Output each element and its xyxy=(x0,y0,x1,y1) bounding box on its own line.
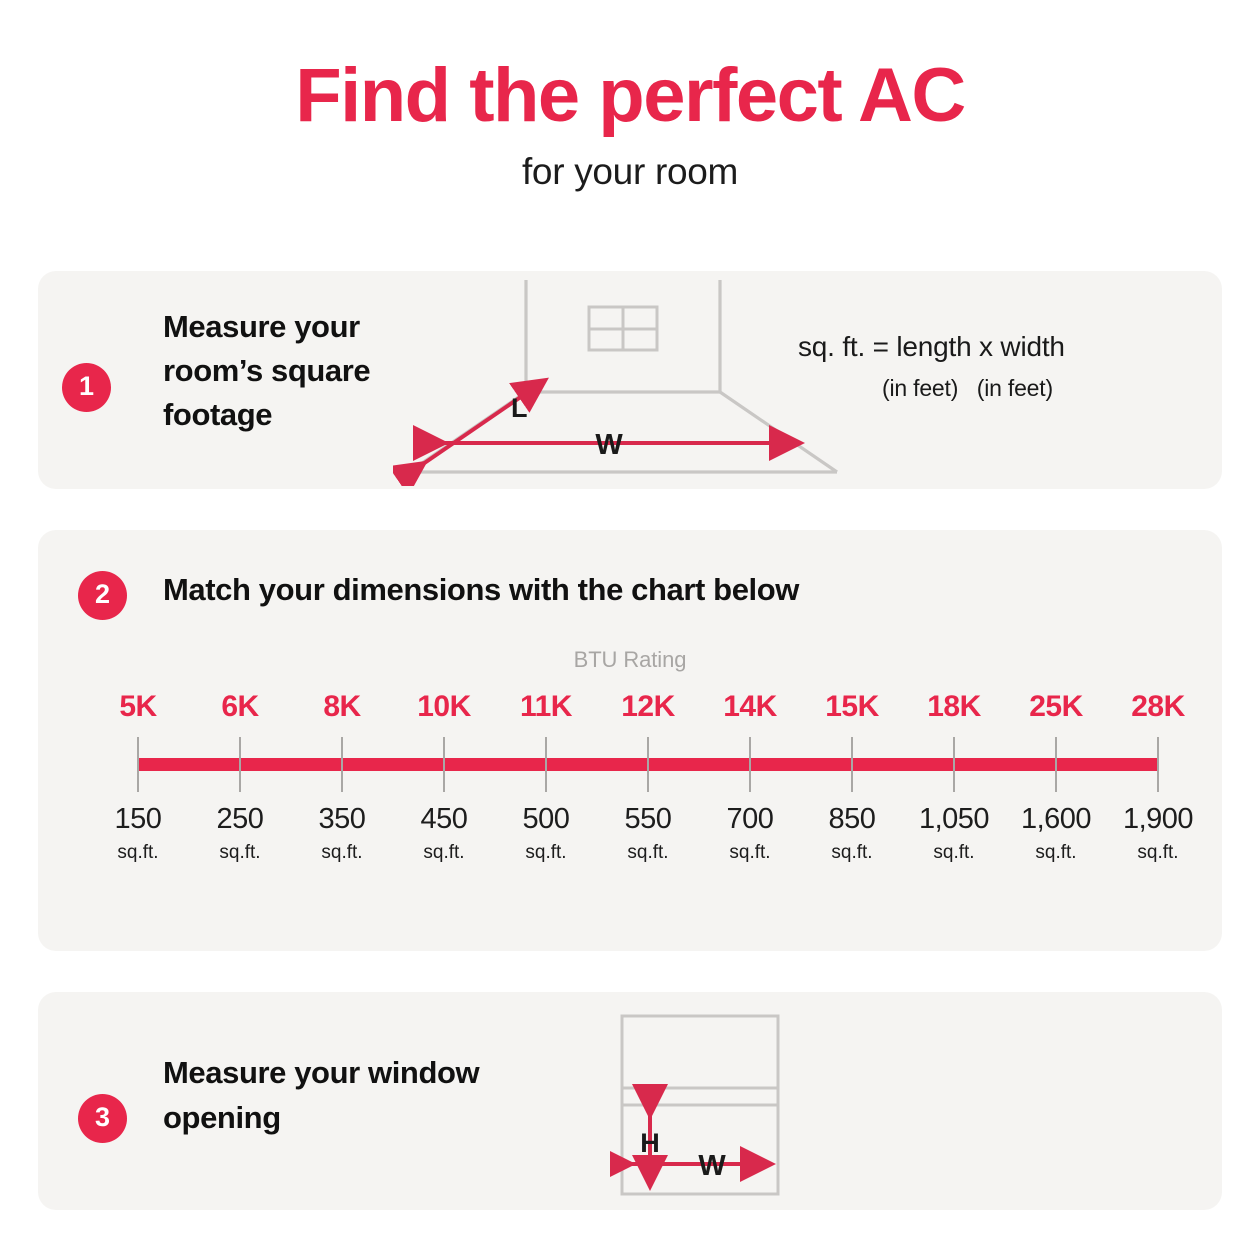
step-1-badge: 1 xyxy=(62,363,111,412)
square-footage-formula: sq. ft. = length x width (in feet) (in f… xyxy=(798,331,1218,402)
sqft-unit: sq.ft. xyxy=(219,842,260,864)
btu-label: 6K xyxy=(221,690,258,724)
btu-label: 25K xyxy=(1029,690,1083,724)
btu-label: 5K xyxy=(119,690,156,724)
window-opening-diagram: H W xyxy=(610,1012,790,1203)
tick-mark xyxy=(341,737,343,792)
tick-mark xyxy=(749,737,751,792)
page-subtitle: for your room xyxy=(0,151,1260,193)
sqft-value: 1,900 xyxy=(1123,803,1193,836)
btu-label: 15K xyxy=(825,690,879,724)
sqft-value: 350 xyxy=(319,803,366,836)
btu-label: 11K xyxy=(520,690,572,724)
sqft-value: 1,050 xyxy=(919,803,989,836)
length-label: L xyxy=(511,393,528,423)
sqft-unit: sq.ft. xyxy=(933,842,974,864)
infographic-page: Find the perfect AC for your room Measur… xyxy=(0,0,1260,1260)
sqft-unit: sq.ft. xyxy=(117,842,158,864)
tick-mark xyxy=(1157,737,1159,792)
width-label: W xyxy=(595,429,623,461)
page-title: Find the perfect AC xyxy=(0,56,1260,137)
step-3-instruction: Measure your window opening xyxy=(163,1051,503,1141)
tick-mark xyxy=(953,737,955,792)
tick-mark xyxy=(443,737,445,792)
formula-equation: sq. ft. = length x width xyxy=(798,331,1218,363)
sqft-value: 250 xyxy=(217,803,264,836)
sqft-unit: sq.ft. xyxy=(1035,842,1076,864)
sqft-value: 550 xyxy=(625,803,672,836)
room-window-icon xyxy=(589,307,657,350)
step-3-number: 3 xyxy=(95,1104,110,1131)
btu-label: 12K xyxy=(621,690,675,724)
sqft-unit: sq.ft. xyxy=(831,842,872,864)
btu-scale-chart: 5K150sq.ft.6K250sq.ft.8K350sq.ft.10K450s… xyxy=(100,690,1160,920)
btu-label: 8K xyxy=(323,690,360,724)
sqft-value: 700 xyxy=(727,803,774,836)
window-width-label: W xyxy=(698,1150,726,1182)
step-1-number: 1 xyxy=(79,373,94,400)
tick-mark xyxy=(1055,737,1057,792)
sqft-unit: sq.ft. xyxy=(321,842,362,864)
formula-units: (in feet) (in feet) xyxy=(798,375,1218,402)
sqft-unit: sq.ft. xyxy=(1137,842,1178,864)
btu-label: 14K xyxy=(723,690,777,724)
step-2-number: 2 xyxy=(95,581,110,608)
btu-label: 10K xyxy=(417,690,471,724)
step-2-badge: 2 xyxy=(78,571,127,620)
sqft-value: 500 xyxy=(523,803,570,836)
btu-rating-caption: BTU Rating xyxy=(38,647,1222,673)
step-2-card: Match your dimensions with the chart bel… xyxy=(38,530,1222,951)
sqft-unit: sq.ft. xyxy=(729,842,770,864)
sqft-value: 450 xyxy=(421,803,468,836)
btu-label: 28K xyxy=(1131,690,1185,724)
step-2-instruction: Match your dimensions with the chart bel… xyxy=(163,572,799,608)
btu-label: 18K xyxy=(927,690,981,724)
step-1-card: Measure your room’s square footage xyxy=(38,271,1222,489)
window-height-label: H xyxy=(640,1128,660,1158)
room-perspective-diagram: L W xyxy=(393,274,853,491)
tick-mark xyxy=(239,737,241,792)
sqft-value: 1,600 xyxy=(1021,803,1091,836)
tick-mark xyxy=(851,737,853,792)
tick-mark xyxy=(137,737,139,792)
step-3-badge: 3 xyxy=(78,1094,127,1143)
sqft-unit: sq.ft. xyxy=(627,842,668,864)
tick-mark xyxy=(545,737,547,792)
sqft-value: 150 xyxy=(115,803,162,836)
page-header: Find the perfect AC for your room xyxy=(0,0,1260,193)
sqft-value: 850 xyxy=(829,803,876,836)
tick-mark xyxy=(647,737,649,792)
sqft-unit: sq.ft. xyxy=(423,842,464,864)
sqft-unit: sq.ft. xyxy=(525,842,566,864)
step-3-card: Measure your window opening xyxy=(38,992,1222,1210)
